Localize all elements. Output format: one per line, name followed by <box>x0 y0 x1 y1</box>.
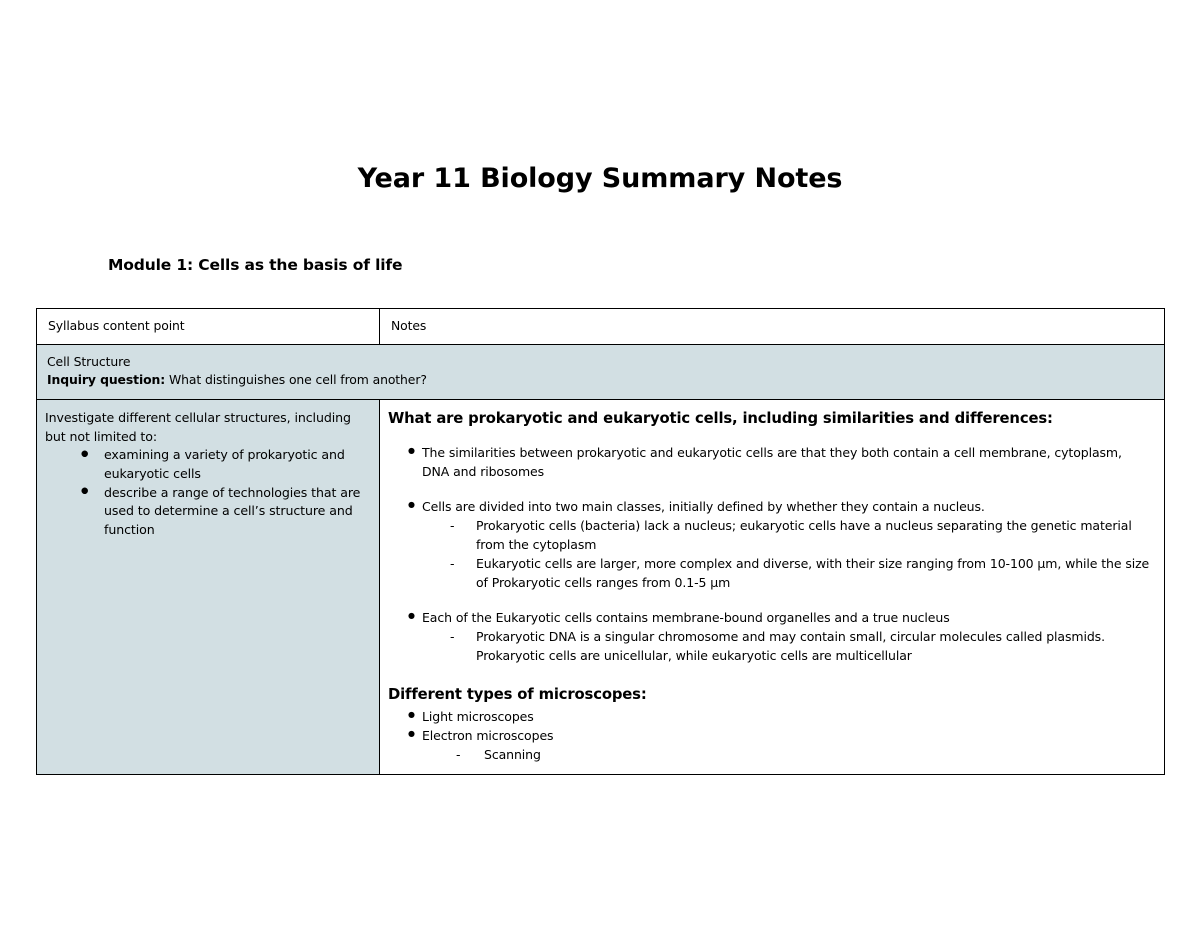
table-header-row: Syllabus content point Notes <box>37 309 1165 345</box>
table-content-row: Investigate different cellular structure… <box>37 400 1165 775</box>
syllabus-bullet-list: examining a variety of prokaryotic and e… <box>41 446 371 539</box>
inquiry-question-text: What distinguishes one cell from another… <box>165 372 427 387</box>
list-item-text: The similarities between prokaryotic and… <box>422 445 1122 479</box>
inquiry-question-line: Inquiry question: What distinguishes one… <box>47 371 1154 389</box>
list-item-text: Cells are divided into two main classes,… <box>422 499 985 514</box>
list-item-text: Each of the Eukaryotic cells contains me… <box>422 610 950 625</box>
list-item-text: Electron microscopes <box>422 728 553 743</box>
microscopes-sub-bullet-list: Scanning <box>422 745 1152 764</box>
table-header-cell-syllabus: Syllabus content point <box>37 309 380 345</box>
list-item-text: Light microscopes <box>422 709 534 724</box>
column-header-notes-label: Notes <box>391 318 1154 334</box>
list-item: Electron microscopes Scanning <box>388 726 1152 764</box>
document-page: Year 11 Biology Summary Notes Module 1: … <box>0 0 1200 927</box>
microscopes-bullet-list: Light microscopes Electron microscopes S… <box>388 707 1152 764</box>
notes-sub-bullet-list: Prokaryotic DNA is a singular chromosome… <box>422 627 1152 665</box>
inquiry-question-label: Inquiry question: <box>47 372 165 387</box>
sub-list-item: Prokaryotic DNA is a singular chromosome… <box>422 627 1152 665</box>
section-topic-label: Cell Structure <box>47 353 1154 371</box>
sub-list-item: Prokaryotic cells (bacteria) lack a nucl… <box>422 516 1152 554</box>
notes-sub-bullet-list: Prokaryotic cells (bacteria) lack a nucl… <box>422 516 1152 592</box>
list-item: Light microscopes <box>388 707 1152 726</box>
notes-heading-microscopes: Different types of microscopes: <box>388 685 1152 705</box>
list-item: describe a range of technologies that ar… <box>41 484 371 540</box>
column-header-syllabus-label: Syllabus content point <box>48 318 369 334</box>
syllabus-lead-text: Investigate different cellular structure… <box>41 409 371 446</box>
table-header-cell-notes: Notes <box>380 309 1165 345</box>
notes-bullet-list: The similarities between prokaryotic and… <box>388 443 1152 665</box>
page-title: Year 11 Biology Summary Notes <box>0 163 1200 195</box>
list-item: Each of the Eukaryotic cells contains me… <box>388 608 1152 665</box>
table-section-row: Cell Structure Inquiry question: What di… <box>37 345 1165 400</box>
notes-heading-prokaryotic-eukaryotic: What are prokaryotic and eukaryotic cell… <box>388 409 1152 429</box>
list-item: The similarities between prokaryotic and… <box>388 443 1152 481</box>
list-item: Cells are divided into two main classes,… <box>388 497 1152 592</box>
section-cell-cell-structure: Cell Structure Inquiry question: What di… <box>37 345 1165 400</box>
list-item: examining a variety of prokaryotic and e… <box>41 446 371 483</box>
notes-content-cell: What are prokaryotic and eukaryotic cell… <box>380 400 1165 775</box>
sub-list-item: Eukaryotic cells are larger, more comple… <box>422 554 1152 592</box>
syllabus-content-cell: Investigate different cellular structure… <box>37 400 380 775</box>
module-heading: Module 1: Cells as the basis of life <box>108 256 402 274</box>
syllabus-notes-table: Syllabus content point Notes Cell Struct… <box>36 308 1165 775</box>
sub-list-item: Scanning <box>422 745 1152 764</box>
